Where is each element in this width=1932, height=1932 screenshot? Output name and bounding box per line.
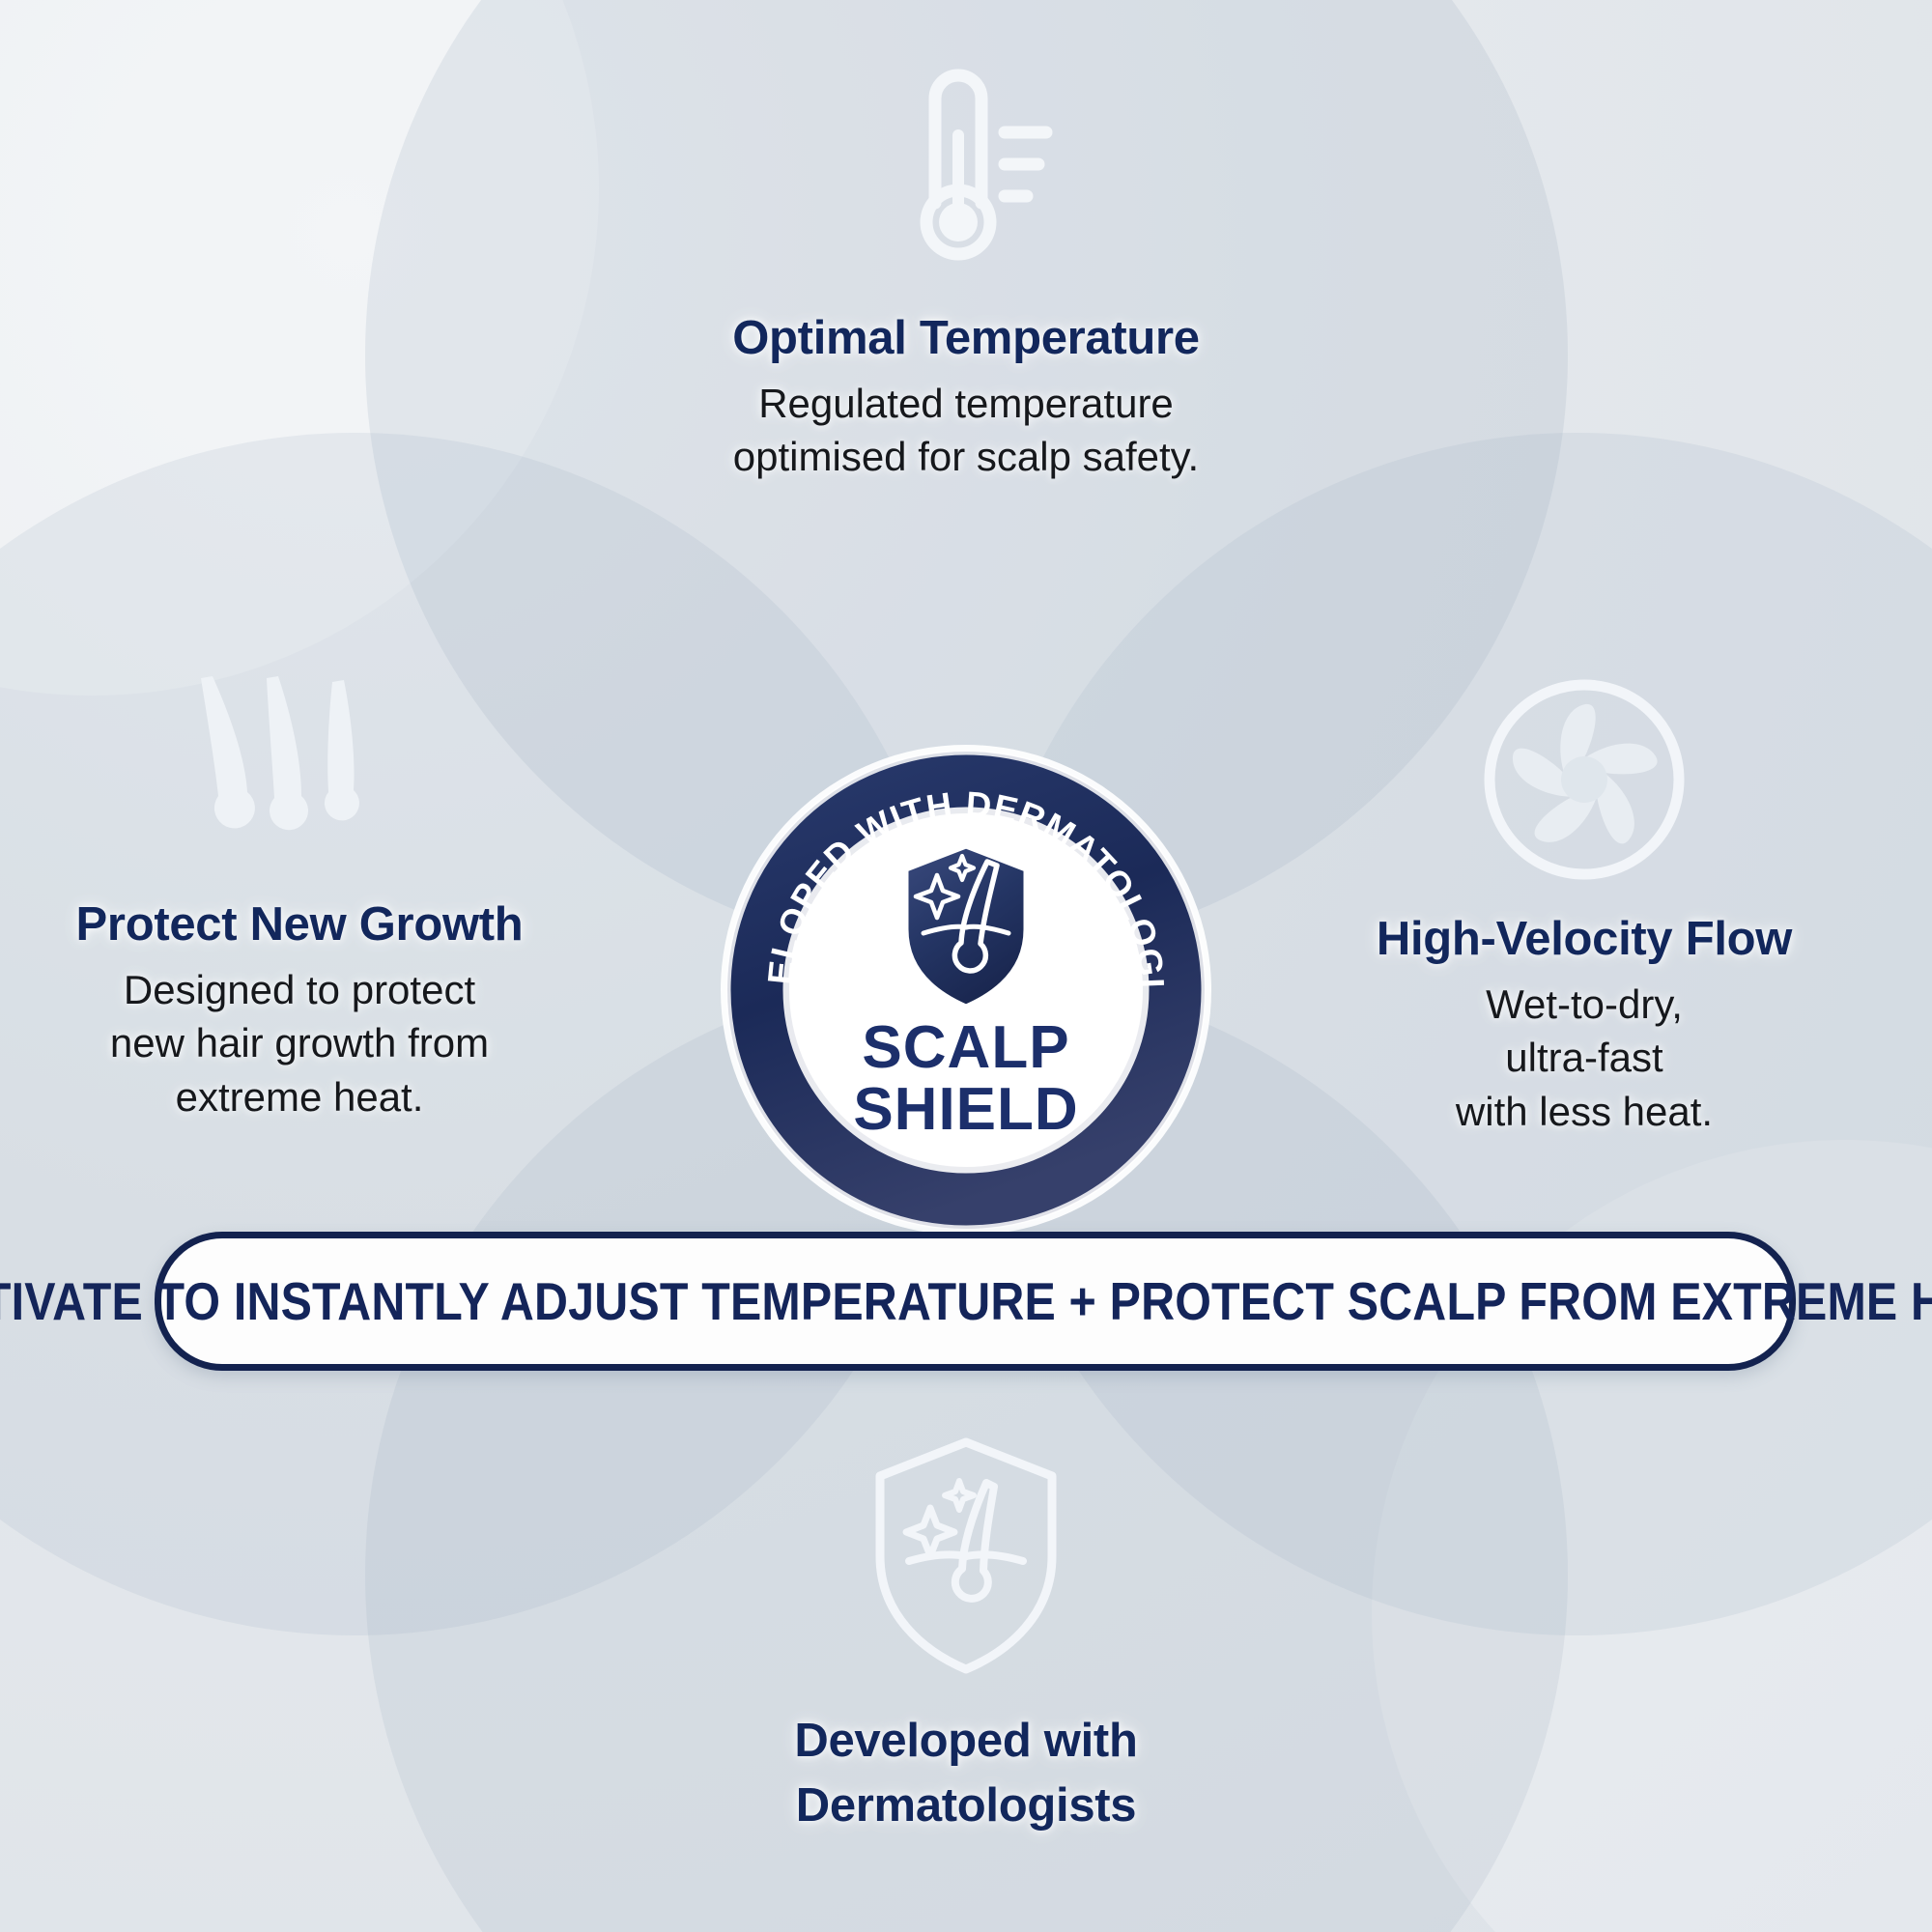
- feature-body-line: ultra-fast: [1285, 1031, 1884, 1084]
- activate-banner-text: ACTIVATE TO INSTANTLY ADJUST TEMPERATURE…: [0, 1270, 1932, 1332]
- feature-body-line: optimised for scalp safety.: [483, 430, 1449, 483]
- feature-heading: Optimal Temperature: [483, 312, 1449, 365]
- shield-hair-icon: [609, 1430, 1323, 1681]
- feature-body-line: Wet-to-dry,: [1285, 978, 1884, 1031]
- scalp-shield-badge: DEVELOPED WITH DERMATOLOGISTS STYLIST AP…: [720, 744, 1212, 1236]
- feature-body-line: with less heat.: [1285, 1085, 1884, 1138]
- feature-developed-with-dermatologists: Developed with Dermatologists: [609, 1430, 1323, 1844]
- infographic-canvas: Optimal Temperature Regulated temperatur…: [0, 0, 1932, 1932]
- feature-heading: Protect New Growth: [29, 898, 570, 952]
- feature-optimal-temperature: Optimal Temperature Regulated temperatur…: [483, 58, 1449, 484]
- badge-title-line1: SCALP: [862, 1014, 1069, 1081]
- feature-protect-new-growth: Protect New Growth Designed to protect n…: [29, 676, 570, 1123]
- feature-body-line: Designed to protect: [29, 963, 570, 1016]
- feature-body-line: extreme heat.: [29, 1070, 570, 1123]
- feature-body-line: Regulated temperature: [483, 377, 1449, 430]
- fan-icon: [1285, 676, 1884, 884]
- hair-follicles-icon: [29, 676, 570, 850]
- activate-banner[interactable]: ACTIVATE TO INSTANTLY ADJUST TEMPERATURE…: [155, 1232, 1796, 1371]
- thermometer-icon: [483, 58, 1449, 266]
- feature-high-velocity-flow: High-Velocity Flow Wet-to-dry, ultra-fas…: [1285, 676, 1884, 1138]
- badge-title-line2: SHIELD: [853, 1076, 1078, 1143]
- feature-body-line: new hair growth from: [29, 1016, 570, 1069]
- feature-heading: High-Velocity Flow: [1285, 913, 1884, 966]
- feature-heading: Developed with: [609, 1715, 1323, 1768]
- feature-heading: Dermatologists: [609, 1779, 1323, 1833]
